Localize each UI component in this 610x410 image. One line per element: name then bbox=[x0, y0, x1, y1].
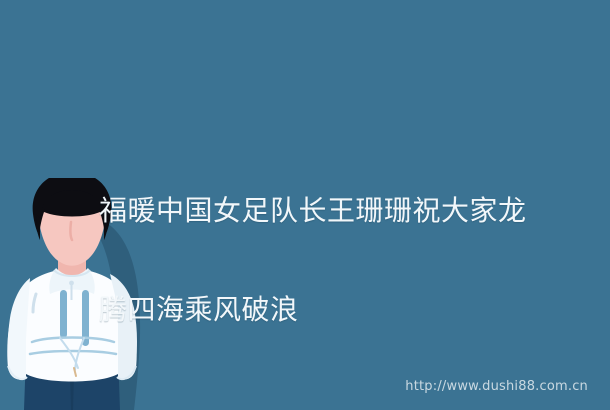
poster-canvas: 福暖中国女足队长王珊珊祝大家龙 腾四海乘风破浪 http://www.dushi… bbox=[0, 0, 610, 410]
headline-line-1: 福暖中国女足队长王珊珊祝大家龙 bbox=[99, 194, 569, 227]
watermark-url: http://www.dushi88.com.cn bbox=[405, 379, 588, 394]
headline-text: 福暖中国女足队长王珊珊祝大家龙 腾四海乘风破浪 bbox=[99, 128, 569, 392]
headline-line-2: 腾四海乘风破浪 bbox=[99, 293, 569, 326]
